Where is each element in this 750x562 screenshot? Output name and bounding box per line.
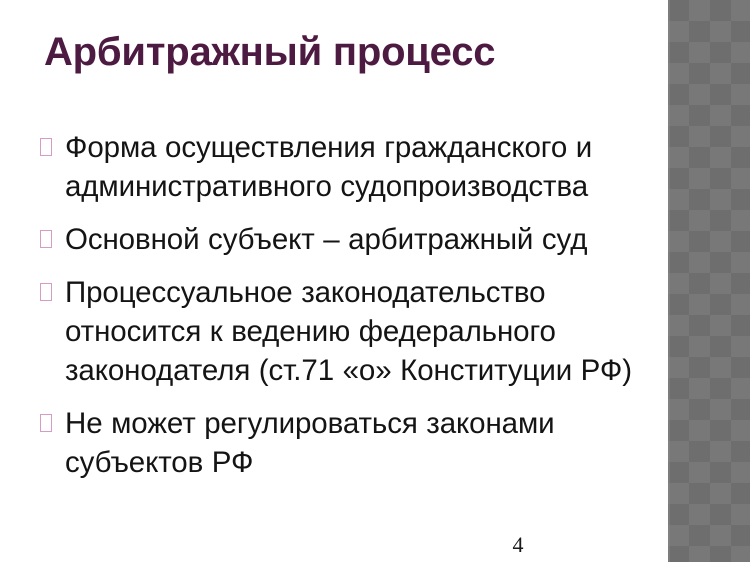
bullet-list: Форма осуществления гражданского и админ… xyxy=(40,128,650,482)
list-item-text: Форма осуществления гражданского и админ… xyxy=(65,128,650,206)
page-number: 4 xyxy=(496,532,540,558)
list-item-text: Не может регулироваться законами субъект… xyxy=(65,404,650,482)
side-band-edge xyxy=(668,0,670,562)
box-bullet-icon xyxy=(40,138,52,156)
box-bullet-icon xyxy=(40,283,52,301)
box-bullet-icon xyxy=(40,414,52,432)
list-item-text: Основной субъект – арбитражный суд xyxy=(65,220,650,259)
slide-title: Арбитражный процесс xyxy=(44,28,644,76)
decorative-side-band xyxy=(668,0,750,562)
box-bullet-icon xyxy=(40,230,52,248)
list-item: Основной субъект – арбитражный суд xyxy=(40,220,650,259)
list-item-text: Процессуальное законодательство относитс… xyxy=(65,273,650,390)
list-item: Процессуальное законодательство относитс… xyxy=(40,273,650,390)
list-item: Форма осуществления гражданского и админ… xyxy=(40,128,650,206)
slide: Арбитражный процесс Форма осуществления … xyxy=(0,0,750,562)
list-item: Не может регулироваться законами субъект… xyxy=(40,404,650,482)
